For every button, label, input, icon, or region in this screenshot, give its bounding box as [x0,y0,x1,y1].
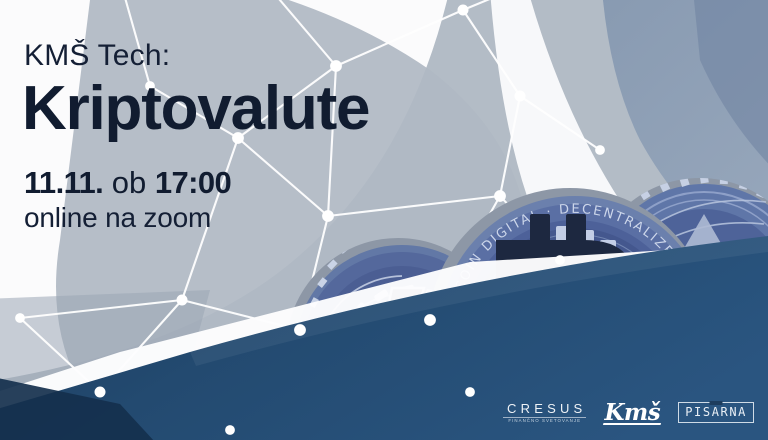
eyebrow-text: KMŠ Tech: [24,40,582,72]
poster-copy: KMŠ Tech: Kriptovalute 11.11. ob 17:00 o… [22,40,582,234]
pisarna-logo-name: PISARNA [685,405,747,419]
kms-logo-name: Kmš [604,399,660,426]
event-time: 17:00 [155,165,231,200]
cresus-logo: CRESUS FINANČNO SVETOVANJE [503,402,586,424]
page-title: Kriptovalute [22,78,582,140]
poster-canvas: BITCOIN DIGITAL · DECENTRALIZED · PEER T… [0,0,768,440]
pisarna-logo: PISARNA [678,402,754,423]
kms-logo-swash [603,423,661,425]
sponsor-logo-bar: CRESUS FINANČNO SVETOVANJE Kmš PISARNA [503,399,754,426]
cresus-logo-name: CRESUS [503,402,586,415]
event-date-connector: ob [103,165,155,200]
event-location: online na zoom [24,202,582,234]
cresus-logo-tagline: FINANČNO SVETOVANJE [508,419,581,423]
event-datetime: 11.11. ob 17:00 [24,166,582,201]
kms-logo: Kmš [602,399,662,426]
event-date: 11.11. [24,165,103,200]
